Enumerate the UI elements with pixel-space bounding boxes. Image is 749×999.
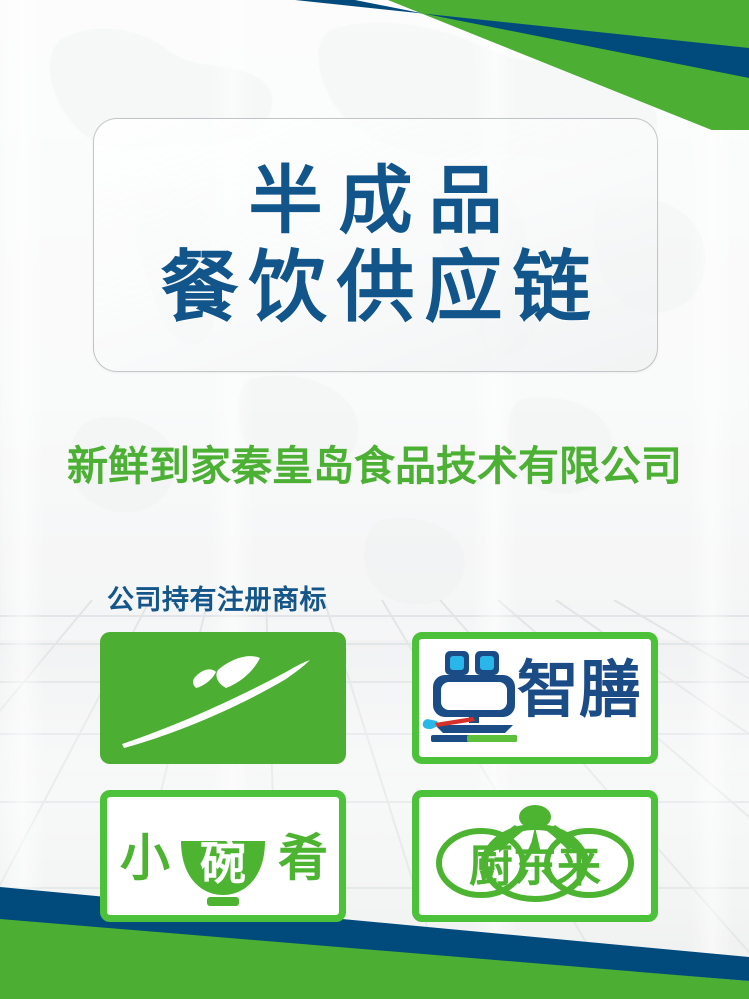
poster-root: 半成品 餐饮供应链 新鲜到家秦皇岛食品技术有限公司 公司持有注册商标 新鲜到家 … <box>0 0 749 999</box>
trademark-grid: 新鲜到家 新鲜到家 <box>100 632 660 922</box>
trademark-label-4: 厨东来 <box>469 842 601 891</box>
trademark-label-3a: 小 <box>120 830 170 886</box>
company-name: 新鲜到家秦皇岛食品技术有限公司 <box>0 432 749 492</box>
trademark-label-3b: 碗 <box>200 837 246 889</box>
title-card: 半成品 餐饮供应链 <box>93 118 658 372</box>
trademark-card-xinxiandaojia[interactable]: 新鲜到家 新鲜到家 <box>100 632 346 764</box>
trademark-label-2: 智膳 <box>517 656 641 725</box>
title-line-1: 半成品 <box>233 161 519 241</box>
leaf-icon <box>193 656 260 688</box>
swoosh-icon <box>122 660 310 748</box>
trademark-label-3c: 肴 <box>278 830 328 886</box>
trademark-card-zhishan[interactable]: 智膳 智膳 <box>412 632 658 764</box>
trademark-card-xiaowanyao[interactable]: 小 碗 肴 小碗肴 <box>100 790 346 922</box>
robot-chef-icon <box>423 651 517 742</box>
trademark-card-chudonglai[interactable]: 厨东来 厨东来 <box>412 790 658 922</box>
title-line-2: 餐饮供应链 <box>150 245 600 329</box>
section-heading-trademarks: 公司持有注册商标 <box>107 578 327 617</box>
